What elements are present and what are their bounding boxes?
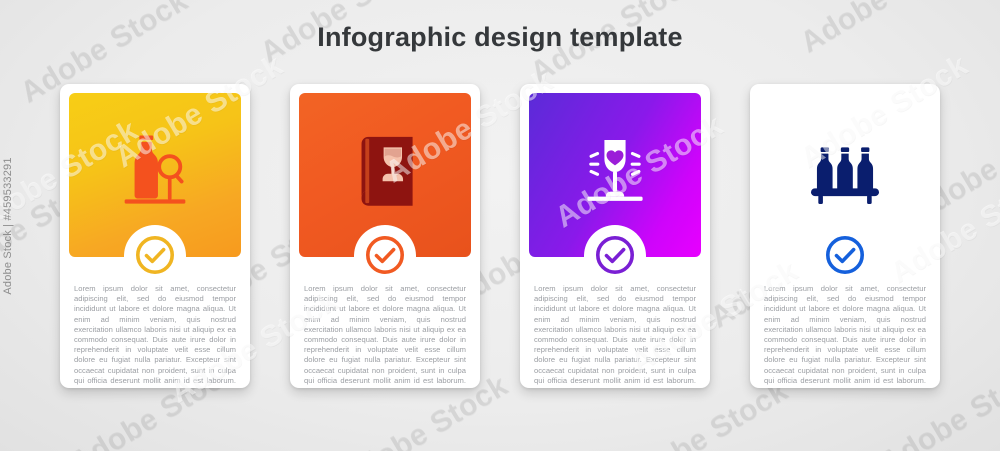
status-badge — [592, 232, 638, 278]
card-body-text: Lorem ipsum dolor sit amet, consectetur … — [304, 284, 466, 396]
cards-row: Lorem ipsum dolor sit amet, consectetur … — [60, 84, 940, 388]
card-body-text: Lorem ipsum dolor sit amet, consectetur … — [764, 284, 926, 396]
status-badge — [822, 232, 868, 278]
wine-bottle-magnifier-icon — [109, 125, 201, 217]
status-badge — [132, 232, 178, 278]
infographic-canvas: Adobe Stock Adobe Stock Adobe Stock Adob… — [0, 0, 1000, 451]
wine-glass-heart-icon — [569, 125, 661, 217]
infographic-card[interactable]: Lorem ipsum dolor sit amet, consectetur … — [60, 84, 250, 388]
card-body-text: Lorem ipsum dolor sit amet, consectetur … — [74, 284, 236, 396]
infographic-card[interactable]: Lorem ipsum dolor sit amet, consectetur … — [750, 84, 940, 388]
stock-id-label: Adobe Stock | #459533291 — [2, 157, 14, 294]
page-title: Infographic design template — [0, 22, 1000, 53]
infographic-card[interactable]: Lorem ipsum dolor sit amet, consectetur … — [520, 84, 710, 388]
infographic-card[interactable]: Lorem ipsum dolor sit amet, consectetur … — [290, 84, 480, 388]
status-badge — [362, 232, 408, 278]
wine-book-icon — [339, 125, 431, 217]
card-body-text: Lorem ipsum dolor sit amet, consectetur … — [534, 284, 696, 396]
bottles-on-shelf-icon — [799, 125, 891, 217]
